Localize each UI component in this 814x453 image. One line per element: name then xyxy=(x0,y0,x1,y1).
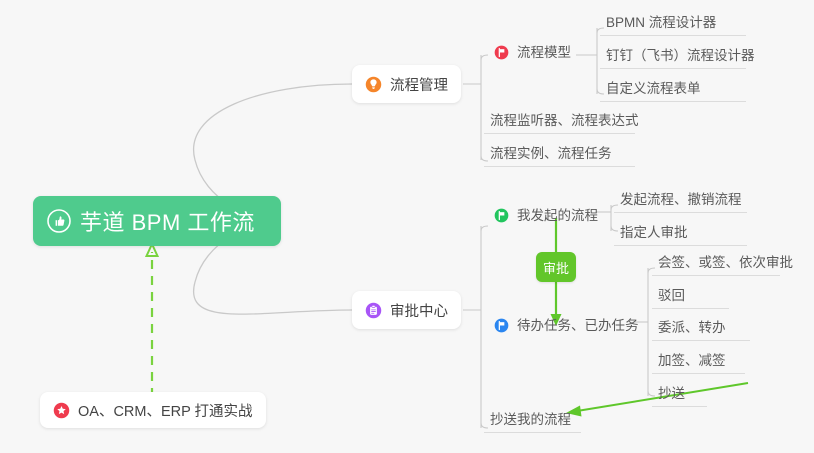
clipboard-icon xyxy=(365,302,382,319)
wire-pm-trunk-top-cap xyxy=(481,55,488,60)
node-my-initiated[interactable]: 我发起的流程 xyxy=(488,200,596,228)
node-counter-or-sequential[interactable]: 会签、或签、依次审批 xyxy=(652,248,780,276)
approval-tag-label: 审批 xyxy=(543,258,569,277)
approval-tag[interactable]: 审批 xyxy=(536,252,576,282)
node-todo-done[interactable]: 待办任务、已办任务 xyxy=(488,310,634,338)
node-add-remove-sign[interactable]: 加签、减签 xyxy=(652,346,745,374)
flag-icon xyxy=(494,318,509,333)
node-cc[interactable]: 抄送 xyxy=(652,379,707,407)
node-label: 自定义流程表单 xyxy=(606,82,701,96)
node-label: 流程模型 xyxy=(517,46,571,60)
node-label: 驳回 xyxy=(658,289,685,303)
node-start-cancel[interactable]: 发起流程、撤销流程 xyxy=(614,185,747,213)
node-listener-expression[interactable]: 流程监听器、流程表达式 xyxy=(484,106,635,134)
flag-icon xyxy=(494,208,509,223)
node-process-management[interactable]: 流程管理 xyxy=(352,65,461,103)
node-label: 抄送我的流程 xyxy=(490,413,571,427)
node-label: 我发起的流程 xyxy=(517,209,598,223)
thumbs-up-icon xyxy=(47,209,71,233)
node-assignee-approval[interactable]: 指定人审批 xyxy=(614,218,747,246)
node-oa-crm-erp[interactable]: OA、CRM、ERP 打通实战 xyxy=(40,392,266,428)
node-label: 流程管理 xyxy=(390,74,448,95)
node-instance-task[interactable]: 流程实例、流程任务 xyxy=(484,139,635,167)
root-node[interactable]: 芋道 BPM 工作流 xyxy=(33,196,281,246)
node-label: 待办任务、已办任务 xyxy=(517,319,639,333)
star-icon xyxy=(53,402,70,419)
mindmap-canvas: 芋道 BPM 工作流 流程管理 流程模型 BPMN 流程设计器 钉钉（飞书）流程 xyxy=(0,0,814,453)
node-delegate-transfer[interactable]: 委派、转办 xyxy=(652,313,750,341)
node-process-model[interactable]: 流程模型 xyxy=(488,37,580,65)
node-label: OA、CRM、ERP 打通实战 xyxy=(78,400,253,421)
node-label: 抄送 xyxy=(658,387,685,401)
node-label: 审批中心 xyxy=(390,300,448,321)
node-label: 钉钉（飞书）流程设计器 xyxy=(606,49,755,63)
node-label: BPMN 流程设计器 xyxy=(606,16,716,30)
node-label: 指定人审批 xyxy=(620,226,688,240)
node-label: 委派、转办 xyxy=(658,321,726,335)
node-reject[interactable]: 驳回 xyxy=(652,281,729,309)
node-approval-center[interactable]: 审批中心 xyxy=(352,291,461,329)
node-label: 会签、或签、依次审批 xyxy=(658,256,793,270)
node-bpmn-designer[interactable]: BPMN 流程设计器 xyxy=(600,8,746,36)
flag-icon xyxy=(494,45,509,60)
node-label: 加签、减签 xyxy=(658,354,726,368)
root-label: 芋道 BPM 工作流 xyxy=(80,205,255,237)
node-cc-to-me[interactable]: 抄送我的流程 xyxy=(484,405,581,433)
node-label: 流程实例、流程任务 xyxy=(490,147,612,161)
lightbulb-icon xyxy=(365,76,382,93)
node-label: 发起流程、撤销流程 xyxy=(620,193,742,207)
wire-ac-trunk-top-cap xyxy=(481,226,488,231)
node-dingtalk-feishu-designer[interactable]: 钉钉（飞书）流程设计器 xyxy=(600,41,746,69)
node-label: 流程监听器、流程表达式 xyxy=(490,114,639,128)
node-custom-process-form[interactable]: 自定义流程表单 xyxy=(600,74,746,102)
